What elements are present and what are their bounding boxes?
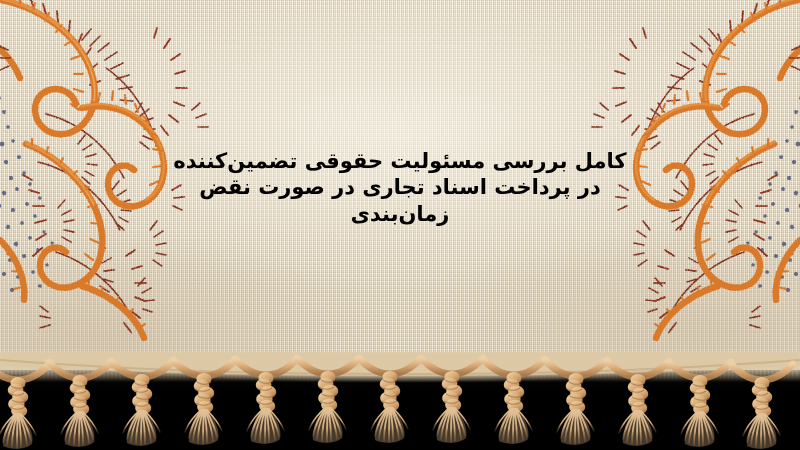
title-line-2: در پرداخت اسناد تجاری در صورت نقض [0,174,800,200]
title-line-1: کامل بررسی مسئولیت حقوقی تضمین‌کننده [0,148,800,174]
title-block: کامل بررسی مسئولیت حقوقی تضمین‌کننده در … [0,148,800,227]
tassel-fringe [0,352,800,450]
title-card-canvas: کامل بررسی مسئولیت حقوقی تضمین‌کننده در … [0,0,800,450]
title-line-3: زمان‌بندی [0,201,800,227]
tassel-row [0,358,793,449]
